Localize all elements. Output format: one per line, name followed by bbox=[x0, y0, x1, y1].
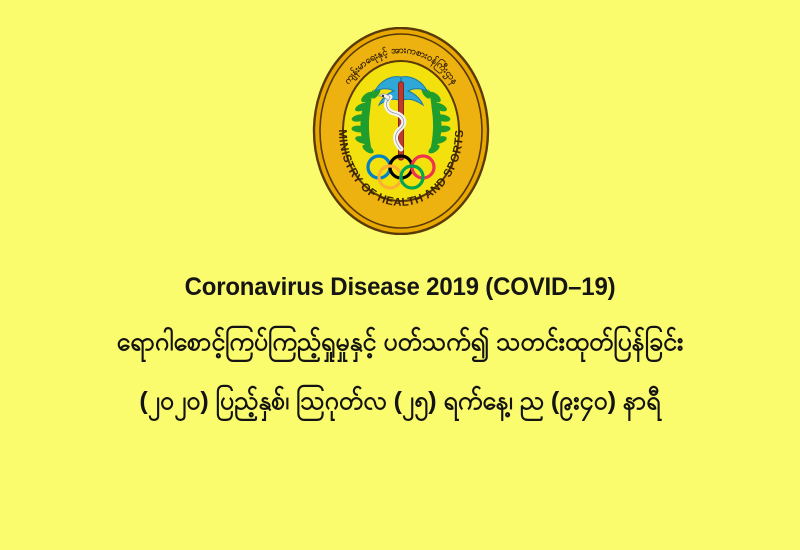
seal-graphic: ကျန်းမာရေးနှင့် အားကစားဝန်ကြီးဌာန MINIST… bbox=[312, 27, 490, 235]
caduceus-snake-eye bbox=[382, 95, 384, 97]
announcement-card: ကျန်းမာရေးနှင့် အားကစားဝန်ကြီးဌာန MINIST… bbox=[0, 0, 800, 550]
announcement-title-english: Coronavirus Disease 2019 (COVID–19) bbox=[16, 262, 784, 302]
announcement-datetime-burmese: (၂၀၂၀) ပြည့်နှစ်၊ သြဂုတ်လ (၂၅) ရက်နေ့၊ ည… bbox=[0, 360, 800, 419]
ministry-of-health-and-sports-seal: ကျန်းမာရေးနှင့် အားကစားဝန်ကြီးဌာန MINIST… bbox=[312, 27, 490, 235]
announcement-subtitle-burmese: ရောဂါစောင့်ကြပ်ကြည့်ရှုမှုနှင့် ပတ်သက်၍ … bbox=[0, 302, 800, 360]
announcement-text-block: Coronavirus Disease 2019 (COVID–19) ရောဂ… bbox=[0, 262, 800, 419]
